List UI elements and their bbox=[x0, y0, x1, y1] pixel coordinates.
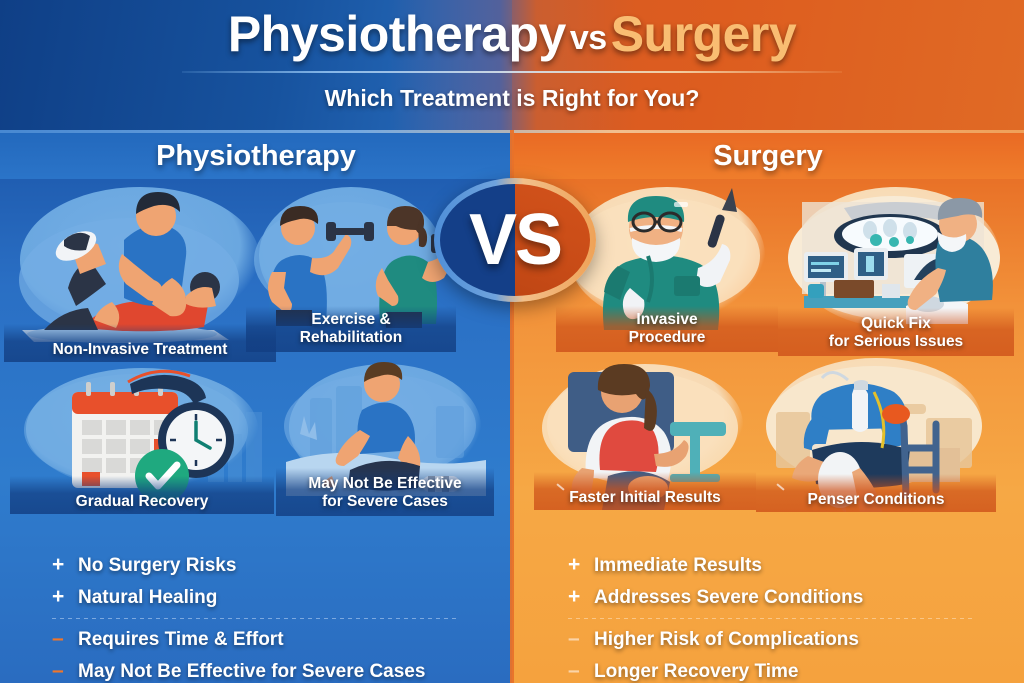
infographic-canvas: PhysiotherapyvsSurgery Which Treatment i… bbox=[0, 0, 1024, 683]
page-title: PhysiotherapyvsSurgery bbox=[0, 8, 1024, 61]
card-caption-line1: Invasive bbox=[556, 311, 778, 328]
card-caption: Exercise & Rehabilitation bbox=[246, 311, 456, 346]
right-benefits-list: + Immediate Results + Addresses Severe C… bbox=[512, 540, 1024, 683]
card-caption-line1: May Not Be Effective bbox=[276, 475, 494, 492]
card-caption-line2: for Serious Issues bbox=[778, 333, 1014, 350]
pro-text: No Surgery Risks bbox=[78, 555, 236, 577]
card-caption-line1: Exercise & bbox=[246, 311, 456, 328]
card-quick-fix[interactable]: Quick Fix for Serious Issues bbox=[778, 180, 1014, 356]
pro-text: Immediate Results bbox=[594, 555, 762, 577]
list-separator bbox=[568, 618, 972, 619]
card-caption-line2: for Severe Cases bbox=[276, 493, 494, 510]
card-caption-line2: Procedure bbox=[556, 329, 778, 346]
title-vs: vs bbox=[566, 19, 611, 57]
plus-marker: + bbox=[52, 586, 78, 607]
vs-badge: VS bbox=[434, 178, 596, 302]
list-item: + Addresses Severe Conditions bbox=[568, 586, 1024, 609]
minus-marker: – bbox=[52, 628, 78, 649]
title-physiotherapy: Physiotherapy bbox=[228, 6, 566, 62]
card-penser-conditions[interactable]: Penser Conditions bbox=[756, 352, 996, 512]
plus-marker: + bbox=[568, 586, 594, 607]
column-heading-left: Physiotherapy bbox=[0, 140, 512, 173]
card-non-invasive-treatment[interactable]: Non-Invasive Treatment bbox=[4, 180, 276, 362]
title-underline bbox=[182, 71, 842, 73]
card-faster-initial-results[interactable]: Faster Initial Results bbox=[534, 358, 756, 510]
card-caption: Invasive Procedure bbox=[556, 311, 778, 346]
card-caption: Quick Fix for Serious Issues bbox=[778, 315, 1014, 350]
left-benefits-list: + No Surgery Risks + Natural Healing – R… bbox=[0, 540, 512, 683]
vs-badge-inner: VS bbox=[440, 184, 590, 296]
plus-marker: + bbox=[568, 554, 594, 575]
card-caption: Penser Conditions bbox=[756, 491, 996, 508]
card-exercise-rehabilitation[interactable]: Exercise & Rehabilitation bbox=[246, 180, 456, 352]
card-caption: May Not Be Effective for Severe Cases bbox=[276, 475, 494, 510]
title-surgery: Surgery bbox=[611, 6, 796, 62]
column-heading-right: Surgery bbox=[512, 140, 1024, 173]
pro-text: Addresses Severe Conditions bbox=[594, 587, 863, 609]
list-item: – Requires Time & Effort bbox=[52, 628, 512, 651]
list-item: + Immediate Results bbox=[568, 554, 1024, 577]
minus-marker: – bbox=[568, 660, 594, 681]
con-text: Requires Time & Effort bbox=[78, 629, 284, 651]
con-text: May Not Be Effective for Severe Cases bbox=[78, 661, 425, 683]
card-gradual-recovery[interactable]: Gradual Recovery bbox=[10, 362, 274, 514]
list-item: – May Not Be Effective for Severe Cases bbox=[52, 660, 512, 683]
vs-badge-label: VS bbox=[469, 204, 561, 276]
card-caption: Gradual Recovery bbox=[10, 493, 274, 510]
pro-text: Natural Healing bbox=[78, 587, 217, 609]
list-item: + No Surgery Risks bbox=[52, 554, 512, 577]
page-subtitle: Which Treatment is Right for You? bbox=[0, 85, 1024, 112]
title-block: PhysiotherapyvsSurgery Which Treatment i… bbox=[0, 8, 1024, 112]
list-separator bbox=[52, 618, 460, 619]
list-item: – Longer Recovery Time bbox=[568, 660, 1024, 683]
con-text: Longer Recovery Time bbox=[594, 661, 799, 683]
card-may-not-be-effective[interactable]: May Not Be Effective for Severe Cases bbox=[276, 358, 494, 516]
minus-marker: – bbox=[568, 628, 594, 649]
list-item: + Natural Healing bbox=[52, 586, 512, 609]
minus-marker: – bbox=[52, 660, 78, 681]
card-caption: Non-Invasive Treatment bbox=[4, 341, 276, 358]
card-caption-line2: Rehabilitation bbox=[246, 329, 456, 346]
card-caption-line1: Quick Fix bbox=[778, 315, 1014, 332]
list-item: – Higher Risk of Complications bbox=[568, 628, 1024, 651]
con-text: Higher Risk of Complications bbox=[594, 629, 859, 651]
plus-marker: + bbox=[52, 554, 78, 575]
card-caption: Faster Initial Results bbox=[534, 489, 756, 506]
